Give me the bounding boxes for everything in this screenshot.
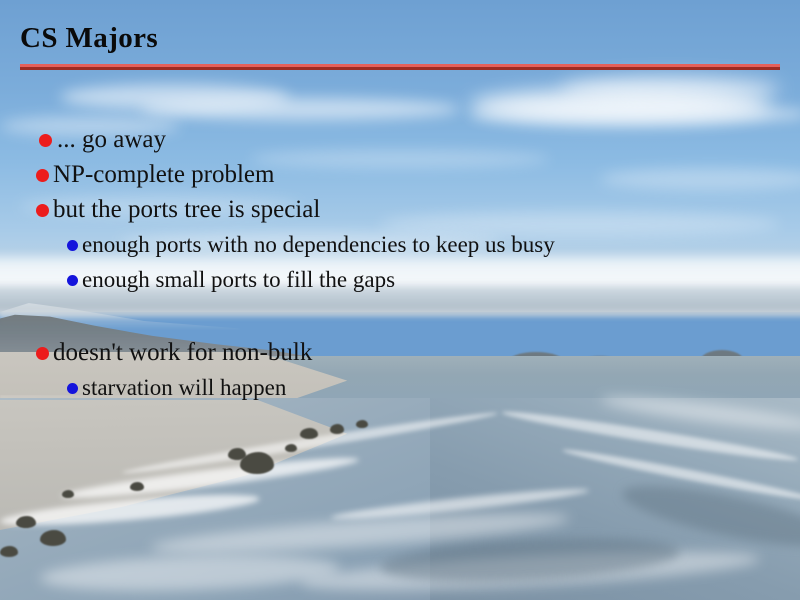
list-item-label: enough ports with no dependencies to kee… <box>82 229 555 261</box>
list-item: starvation will happen <box>0 372 800 407</box>
list-item: NP-complete problem <box>0 159 800 194</box>
list-item: doesn't work for non-bulk <box>0 337 800 372</box>
bullet-dot-icon <box>36 347 49 360</box>
bullet-dot-icon <box>67 240 78 251</box>
bullet-dot-icon <box>39 134 52 147</box>
beach-rock <box>0 546 18 557</box>
slide-body: ... go away NP-complete problem but the … <box>0 124 800 407</box>
bullet-dot-icon <box>36 169 49 182</box>
list-item-label: ... go away <box>57 124 166 156</box>
list-item-label: enough small ports to fill the gaps <box>82 264 395 296</box>
beach-rock <box>16 516 36 528</box>
cloud <box>560 76 780 102</box>
beach-rock <box>130 482 144 491</box>
cloud-wisp <box>140 98 460 120</box>
beach-rock <box>40 530 66 546</box>
bullet-dot-icon <box>67 275 78 286</box>
presentation-slide: CS Majors ... go away NP-complete proble… <box>0 0 800 600</box>
beach-rock <box>228 448 246 460</box>
slide-title: CS Majors <box>20 22 158 55</box>
beach-rock <box>300 428 318 439</box>
list-item-label: NP-complete problem <box>53 159 274 191</box>
bullet-dot-icon <box>67 383 78 394</box>
beach-rock <box>285 444 297 452</box>
list-item: but the ports tree is special <box>0 194 800 229</box>
list-item: enough small ports to fill the gaps <box>0 264 800 299</box>
list-item-label: doesn't work for non-bulk <box>53 337 312 369</box>
bullet-dot-icon <box>36 204 49 217</box>
beach-rock <box>330 424 344 434</box>
cloud-wisp <box>470 104 800 124</box>
list-spacer <box>0 299 800 337</box>
beach-rock <box>62 490 74 498</box>
title-underline-rule <box>20 64 780 70</box>
list-item: enough ports with no dependencies to kee… <box>0 229 800 264</box>
list-item: ... go away <box>0 124 800 159</box>
list-item-label: starvation will happen <box>82 372 286 404</box>
list-item-label: but the ports tree is special <box>53 194 320 226</box>
beach-rock <box>356 420 368 428</box>
